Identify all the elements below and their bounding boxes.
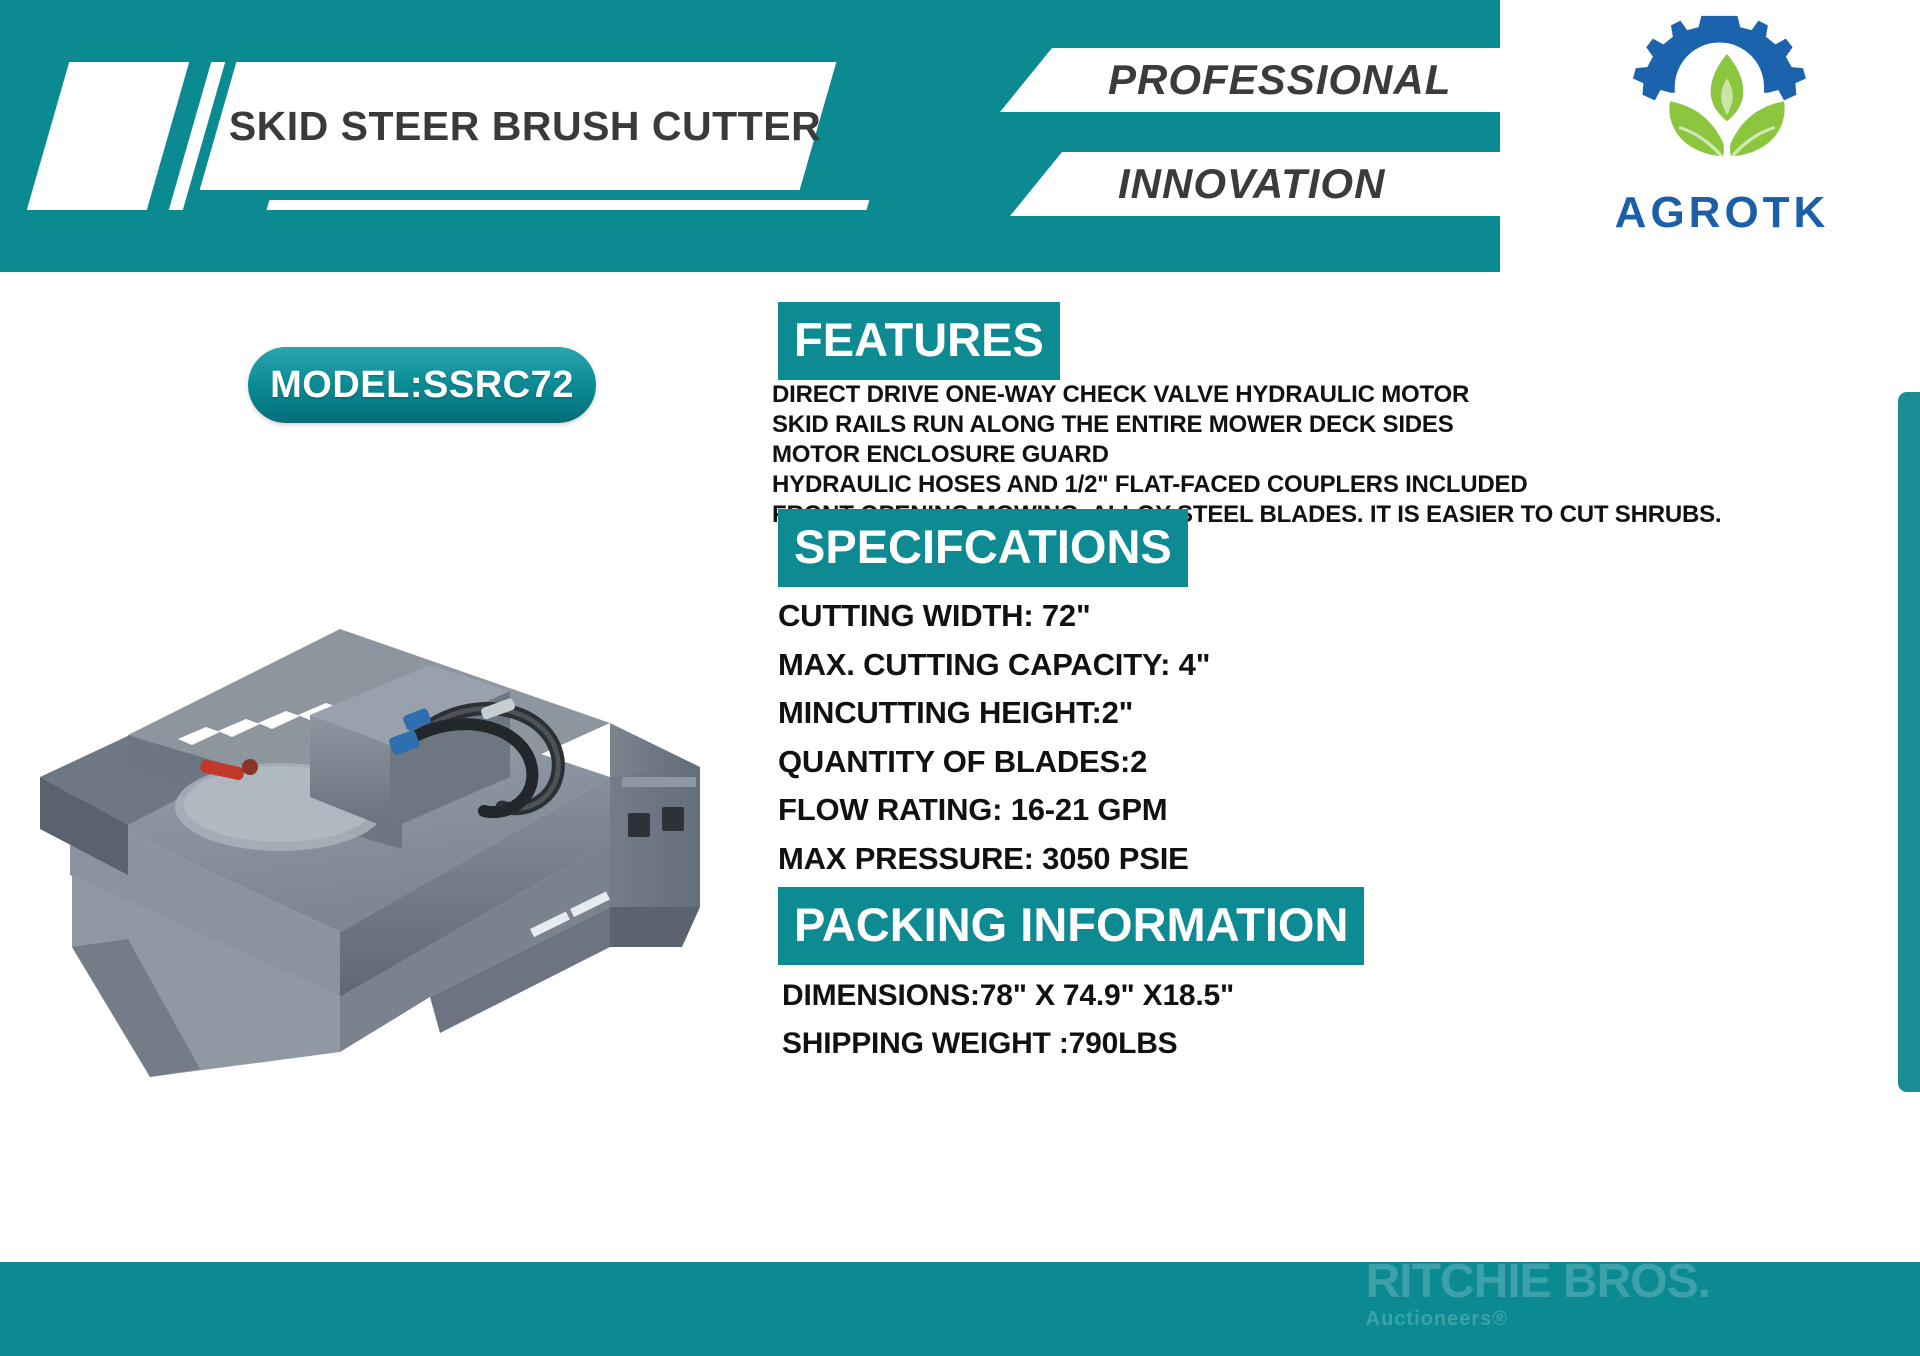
specifications-list: CUTTING WIDTH: 72" MAX. CUTTING CAPACITY…	[778, 592, 1678, 883]
spec-item: FLOW RATING: 16-21 GPM	[778, 786, 1678, 835]
feature-item: SKID RAILS RUN ALONG THE ENTIRE MOWER DE…	[772, 410, 1772, 440]
page-header: SKID STEER BRUSH CUTTER PROFESSIONAL INN…	[0, 0, 1920, 272]
page-footer	[0, 1262, 1920, 1356]
logo-field: AGROTK	[1500, 0, 1920, 272]
feature-item: MOTOR ENCLOSURE GUARD	[772, 440, 1772, 470]
spec-item: QUANTITY OF BLADES:2	[778, 738, 1678, 787]
specifications-heading: SPECIFCATIONS	[778, 509, 1188, 587]
packing-heading: PACKING INFORMATION	[778, 887, 1364, 965]
gear-leaf-logo-icon	[1632, 6, 1822, 191]
spec-item: MAX PRESSURE: 3050 PSIE	[778, 835, 1678, 884]
packing-item: DIMENSIONS:78" X 74.9" X18.5"	[782, 972, 1682, 1020]
page-body: MODEL:SSRC72	[0, 272, 1920, 1262]
spec-item: MAX. CUTTING CAPACITY: 4"	[778, 641, 1678, 690]
tagline-professional: PROFESSIONAL	[1108, 48, 1451, 112]
feature-item: DIRECT DRIVE ONE-WAY CHECK VALVE HYDRAUL…	[772, 380, 1772, 410]
spec-column: FEATURES DIRECT DRIVE ONE-WAY CHECK VALV…	[770, 272, 1830, 1262]
model-badge-label: MODEL:SSRC72	[270, 364, 574, 407]
product-image-brush-cutter	[10, 477, 750, 1097]
spec-item: CUTTING WIDTH: 72"	[778, 592, 1678, 641]
brand-logo: AGROTK	[1572, 6, 1872, 264]
feature-item: HYDRAULIC HOSES AND 1/2" FLAT-FACED COUP…	[772, 470, 1772, 500]
model-badge: MODEL:SSRC72	[248, 347, 596, 423]
tagline-innovation: INNOVATION	[1118, 152, 1385, 216]
right-edge-tab	[1898, 392, 1920, 1092]
features-heading: FEATURES	[778, 302, 1060, 380]
brand-name: AGROTK	[1572, 188, 1872, 238]
page-title: SKID STEER BRUSH CUTTER	[225, 78, 825, 174]
features-list: DIRECT DRIVE ONE-WAY CHECK VALVE HYDRAUL…	[772, 380, 1772, 530]
packing-item: SHIPPING WEIGHT :790LBS	[782, 1020, 1682, 1068]
spec-item: MINCUTTING HEIGHT:2"	[778, 689, 1678, 738]
header-title-underline	[267, 200, 870, 210]
packing-list: DIMENSIONS:78" X 74.9" X18.5" SHIPPING W…	[782, 972, 1682, 1068]
